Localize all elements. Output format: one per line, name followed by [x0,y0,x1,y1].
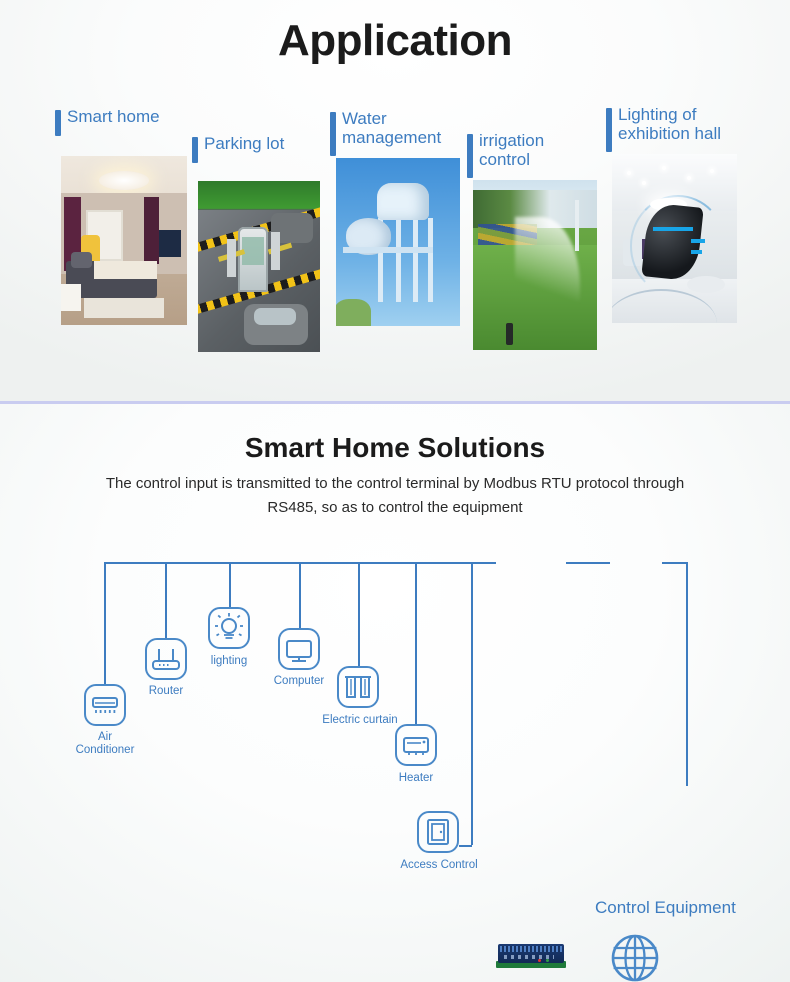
device-chip-computer[interactable] [278,628,320,670]
drop-line-control-equipment [686,562,688,786]
application-tile-irrigation-control[interactable]: irrigation control [467,134,597,350]
application-tile-water-management[interactable]: Water management [330,112,460,327]
application-section: Application Smart home Parking lot [0,0,790,402]
heater-icon [397,726,435,764]
smart-home-description: The control input is transmitted to the … [95,472,695,520]
tile-caption: Lighting of exhibition hall [618,105,721,143]
device-chip-router[interactable] [145,638,187,680]
control-equipment-label: Control Equipment [595,898,736,918]
tile-accent-bar [55,110,61,136]
device-label-heater: Heater [371,772,461,785]
device-chip-electric-curtain[interactable] [337,666,379,708]
drop-line-access-control [471,562,473,845]
tile-accent-bar [606,108,612,152]
device-label-electric-curtain: Electric curtain [313,714,407,727]
tile-caption: Parking lot [204,134,284,154]
water-tower-photo [336,158,460,326]
control-module-board [496,944,566,970]
exhibition-hall-photo [612,154,737,323]
parking-lot-photo [198,181,320,352]
device-label-access-control: Access Control [392,859,486,872]
device-label-computer: Computer [254,675,344,688]
device-label-air-conditioner: Air Conditioner [60,731,150,757]
door-access-icon [419,813,457,851]
smart-home-title: Smart Home Solutions [0,432,790,464]
page-title: Application [0,16,790,66]
application-tile-exhibition-hall[interactable]: Lighting of exhibition hall [606,108,736,323]
branch-line-access-control [459,845,472,847]
drop-line-air-conditioner [104,562,106,684]
page-root: Application Smart home Parking lot [0,0,790,982]
irrigation-sprinkler-photo [473,180,597,350]
drop-line-heater [415,562,417,724]
tile-accent-bar [467,134,473,178]
drop-line-lighting [229,562,231,607]
drop-line-computer [299,562,301,628]
curtain-icon [339,668,377,706]
device-chip-heater[interactable] [395,724,437,766]
air-conditioner-icon [86,686,124,724]
device-chip-lighting[interactable] [208,607,250,649]
router-icon [147,640,185,678]
application-tile-parking-lot[interactable]: Parking lot [192,137,320,352]
computer-monitor-icon [280,630,318,668]
globe-icon [610,933,660,982]
bus-line-horizontal-right [566,562,610,564]
bus-line-horizontal-far-right [662,562,687,564]
smart-home-bedroom-photo [61,156,187,325]
tile-accent-bar [192,137,198,163]
tile-caption: irrigation control [479,131,544,169]
tile-accent-bar [330,112,336,156]
tile-caption: Water management [342,109,441,147]
drop-line-electric-curtain [358,562,360,666]
device-chip-air-conditioner[interactable] [84,684,126,726]
drop-line-router [165,562,167,638]
device-label-router: Router [121,685,211,698]
light-bulb-icon [210,609,248,647]
tile-caption: Smart home [67,107,160,127]
device-chip-access-control[interactable] [417,811,459,853]
application-tile-smart-home[interactable]: Smart home [55,110,185,325]
smart-home-section: Smart Home Solutions The control input i… [0,404,790,982]
device-label-lighting: lighting [184,655,274,668]
